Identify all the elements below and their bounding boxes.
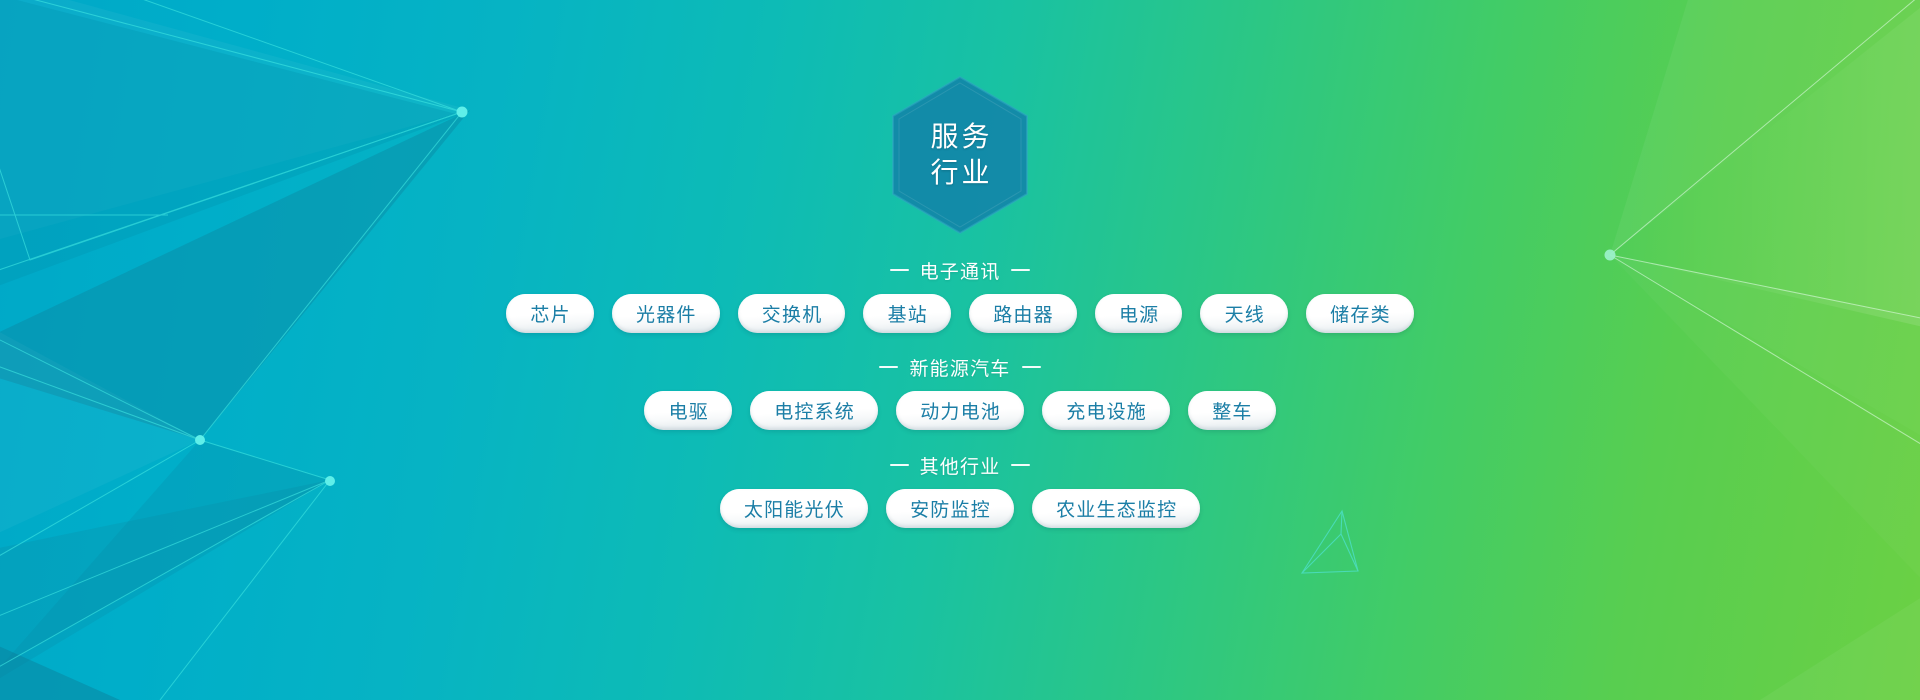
dash-left-icon [879,366,898,368]
pill-row-2: 电驱 电控系统 动力电池 充电设施 整车 [0,391,1920,430]
pill-chip[interactable]: 芯片 [506,294,594,333]
pill-security-monitoring[interactable]: 安防监控 [886,489,1014,528]
pill-row-1: 芯片 光器件 交换机 基站 路由器 电源 天线 储存类 [0,294,1920,333]
industry-sections: 电子通讯 芯片 光器件 交换机 基站 路由器 电源 天线 储存类 新能源汽车 [0,255,1920,528]
pill-whole-vehicle[interactable]: 整车 [1188,391,1276,430]
badge-label-line2: 行业 [927,155,992,191]
pill-power-battery[interactable]: 动力电池 [896,391,1024,430]
dash-right-icon [1011,464,1030,466]
dash-left-icon [890,464,909,466]
pill-electronic-control-system[interactable]: 电控系统 [750,391,878,430]
badge-label-line1: 服务 [927,119,992,155]
pill-charging-facility[interactable]: 充电设施 [1042,391,1170,430]
pill-antenna[interactable]: 天线 [1200,294,1288,333]
pill-router[interactable]: 路由器 [969,294,1077,333]
service-industry-badge: 服务 行业 [890,75,1030,235]
dash-left-icon [890,269,909,271]
service-industry-banner: 服务 行业 电子通讯 芯片 光器件 交换机 基站 路由器 电源 天线 储存类 [0,0,1920,700]
dash-right-icon [1011,269,1030,271]
pill-storage[interactable]: 储存类 [1306,294,1414,333]
section-title-3: 其他行业 [0,450,1920,480]
badge-label: 服务 行业 [890,75,1030,235]
section-title-3-text: 其他行业 [920,452,1001,479]
section-title-1: 电子通讯 [0,255,1920,285]
pill-switch[interactable]: 交换机 [738,294,846,333]
pill-base-station[interactable]: 基站 [863,294,951,333]
section-title-2: 新能源汽车 [0,352,1920,382]
pill-agricultural-ecological-monitoring[interactable]: 农业生态监控 [1032,489,1200,528]
section-new-energy-vehicle: 新能源汽车 电驱 电控系统 动力电池 充电设施 整车 [0,352,1920,430]
dash-right-icon [1022,366,1041,368]
pill-optical-device[interactable]: 光器件 [612,294,720,333]
pill-solar-photovoltaic[interactable]: 太阳能光伏 [720,489,868,528]
pill-row-3: 太阳能光伏 安防监控 农业生态监控 [0,489,1920,528]
pill-power-supply[interactable]: 电源 [1095,294,1183,333]
section-other-industries: 其他行业 太阳能光伏 安防监控 农业生态监控 [0,450,1920,528]
section-electronics-communication: 电子通讯 芯片 光器件 交换机 基站 路由器 电源 天线 储存类 [0,255,1920,333]
section-title-2-text: 新能源汽车 [909,354,1010,381]
pill-edrive[interactable]: 电驱 [644,391,732,430]
section-title-1-text: 电子通讯 [920,257,1001,284]
